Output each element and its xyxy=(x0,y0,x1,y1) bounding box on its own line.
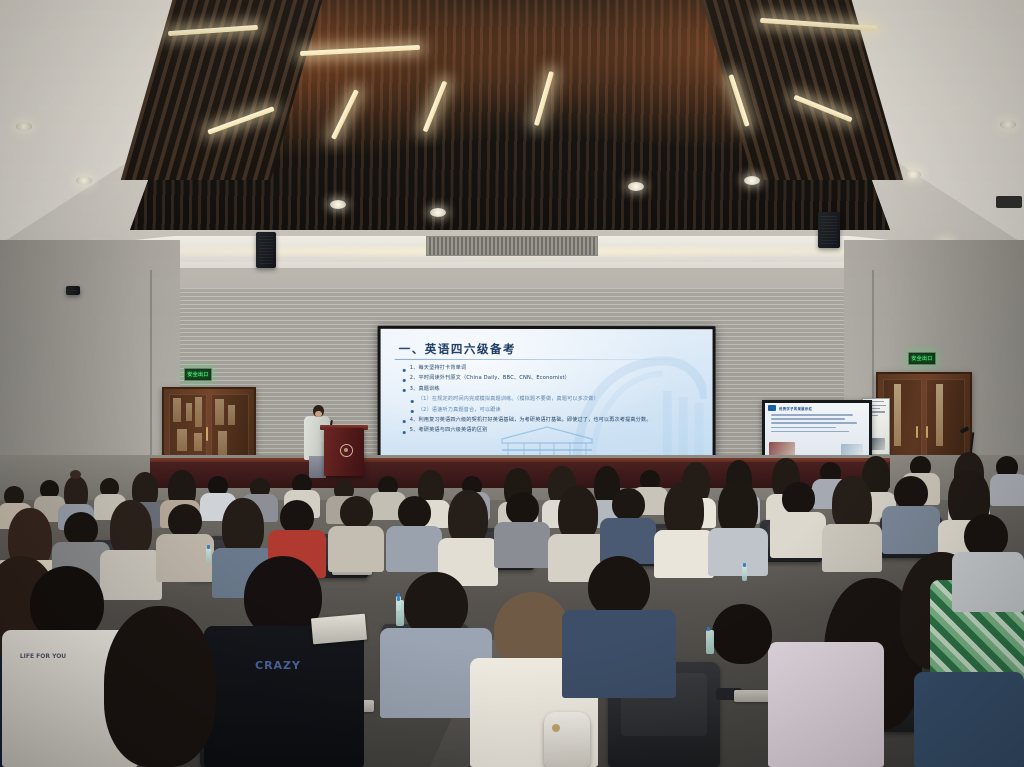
tshirt-graphic-text: LIFE FOR YOU xyxy=(14,654,72,661)
slide-bullet-list: 1、每天坚持打卡背单词 2、平时阅读外刊原文（China Daily、BBC、C… xyxy=(403,365,699,438)
audience-torso xyxy=(914,672,1024,767)
door-handle[interactable] xyxy=(926,426,928,438)
slide-bullet: 4、利用复习英语四六级的契机打好英语基础，为考研英语打基础。即使过了，也可以再次… xyxy=(403,417,699,424)
bullet-dot-icon xyxy=(411,410,414,413)
audience-torso xyxy=(768,642,884,767)
slide-bullet-text: （1）在规定的时间内完成模拟真题训练。（模拟题不要做，真题可以多次做） xyxy=(418,396,599,403)
door-carving xyxy=(194,433,202,451)
door-carving xyxy=(186,403,192,421)
downlight xyxy=(430,208,446,217)
banner-line xyxy=(771,414,853,416)
door-carving xyxy=(228,405,235,425)
audience-hairclip-icon xyxy=(178,464,190,473)
banner-line xyxy=(771,431,849,433)
audience-torso xyxy=(770,512,826,558)
audience-torso xyxy=(204,626,364,767)
door-carving xyxy=(215,399,224,425)
bullet-dot-icon xyxy=(403,431,406,434)
audience-torso xyxy=(100,550,162,600)
audience-torso xyxy=(654,530,714,578)
audience-hair-bun xyxy=(70,470,81,479)
audience-torso xyxy=(562,610,676,698)
audience-head xyxy=(506,492,539,525)
slide-bullet: 1、每天坚持打卡背单词 xyxy=(403,365,699,373)
bullet-dot-icon xyxy=(403,379,406,382)
laptop-device[interactable] xyxy=(311,614,367,645)
ceiling-air-grille xyxy=(426,236,598,256)
bullet-dot-icon xyxy=(403,368,406,371)
door-carving xyxy=(195,397,202,427)
presentation-screen: 一、英语四六级备考 1、每天坚持打卡背单词 2、平时阅读外刊原文（China D… xyxy=(378,326,716,474)
water-bottle[interactable] xyxy=(742,566,747,581)
downlight xyxy=(744,176,760,185)
door-inlay xyxy=(936,384,943,446)
slide-surface: 一、英语四六级备考 1、每天坚持打卡背单词 2、平时阅读外刊原文（China D… xyxy=(381,329,713,471)
side-display-board: 优秀学子风采展示栏 xyxy=(762,400,872,462)
exit-sign-left-label: 安全出口 xyxy=(187,371,209,378)
slide-bullet: （2）语速听力真题音合，可以跟读 xyxy=(411,406,699,413)
audience-head xyxy=(398,496,431,529)
door-panel xyxy=(926,379,965,465)
downlight xyxy=(16,122,32,131)
slide-bullet: （1）在规定的时间内完成模拟真题训练。（模拟题不要做，真题可以多次做） xyxy=(411,396,699,403)
lecture-hall-photo: 安全出口 安全出口 xyxy=(0,0,1024,767)
bullet-dot-icon xyxy=(411,400,414,403)
door-handle[interactable] xyxy=(206,427,208,441)
slide-title: 一、英语四六级备考 xyxy=(399,341,516,357)
water-bottle[interactable] xyxy=(396,600,404,626)
exit-sign-right-label: 安全出口 xyxy=(911,355,933,362)
wall-plate-left xyxy=(66,286,80,295)
banner-line xyxy=(771,418,845,420)
slide-bullet-text: 1、每天坚持打卡背单词 xyxy=(410,365,467,372)
slide-bullet-text: 3、真题训练 xyxy=(410,386,440,393)
slide-bullet-text: 4、利用复习英语四六级的契机打好英语基础，为考研英语打基础。即使过了，也可以再次… xyxy=(410,417,652,424)
banner-line xyxy=(771,422,857,424)
door-carving xyxy=(218,431,227,455)
bullet-dot-icon xyxy=(403,420,406,423)
presenter-face xyxy=(315,411,322,417)
podium xyxy=(324,428,364,476)
banner-title: 优秀学子风采展示栏 xyxy=(779,406,812,411)
downlight xyxy=(330,200,346,209)
audience-torso xyxy=(952,552,1024,612)
downlight xyxy=(1000,120,1016,129)
slide-title-rule xyxy=(395,359,695,360)
slide-bullet-text: 5、考研英语与四六级英语的区别 xyxy=(410,427,488,434)
shoe-buckle-icon xyxy=(552,724,560,732)
door-inlay xyxy=(894,384,901,446)
slide-bullet: 3、真题训练 xyxy=(403,386,699,393)
podium-emblem-icon xyxy=(340,444,353,457)
exit-sign-right: 安全出口 xyxy=(908,352,936,365)
audience-torso xyxy=(990,474,1024,506)
audience-head xyxy=(782,482,815,515)
audience-head xyxy=(712,604,772,664)
audience-torso xyxy=(882,506,940,554)
audience-torso xyxy=(708,528,768,576)
audience-head xyxy=(168,504,202,538)
exit-sign-left: 安全出口 xyxy=(184,368,212,381)
downlight xyxy=(905,170,921,179)
slide-bullet-text: 2、平时阅读外刊原文（China Daily、BBC、CNN、Economist… xyxy=(410,375,570,382)
wall-speaker-right xyxy=(818,212,840,248)
downlight xyxy=(76,176,92,185)
bullet-dot-icon xyxy=(403,389,406,392)
door-carving xyxy=(177,429,187,451)
audience-head xyxy=(104,606,216,767)
audience-head xyxy=(280,500,314,534)
door-handle[interactable] xyxy=(916,426,918,438)
audience-head xyxy=(340,496,373,529)
banner-text-lines xyxy=(771,414,864,435)
tshirt-graphic-text: CRAZY xyxy=(230,660,326,672)
audience-torso xyxy=(494,522,550,568)
audience-head xyxy=(894,476,928,510)
audience-torso xyxy=(328,526,384,572)
wall-speaker-left xyxy=(256,232,276,268)
slide-bullet: 5、考研英语与四六级英语的区别 xyxy=(403,427,699,435)
ceiling-spotlight-bar xyxy=(996,196,1022,208)
audience-torso xyxy=(386,526,442,572)
slide-bullet-text: （2）语速听力真题音合，可以跟读 xyxy=(418,407,501,414)
door-carving xyxy=(173,398,181,422)
water-bottle[interactable] xyxy=(206,548,211,563)
downlight xyxy=(628,182,644,191)
shoe xyxy=(544,712,590,767)
audience-head xyxy=(64,512,98,546)
audience-torso xyxy=(822,524,882,572)
audience-head xyxy=(612,488,645,521)
banner-line xyxy=(771,427,836,429)
water-bottle[interactable] xyxy=(706,630,714,654)
slide-bullet: 2、平时阅读外刊原文（China Daily、BBC、CNN、Economist… xyxy=(403,375,699,382)
banner-photo xyxy=(769,442,795,456)
audience-head xyxy=(588,556,650,618)
banner-badge-icon xyxy=(768,405,776,411)
